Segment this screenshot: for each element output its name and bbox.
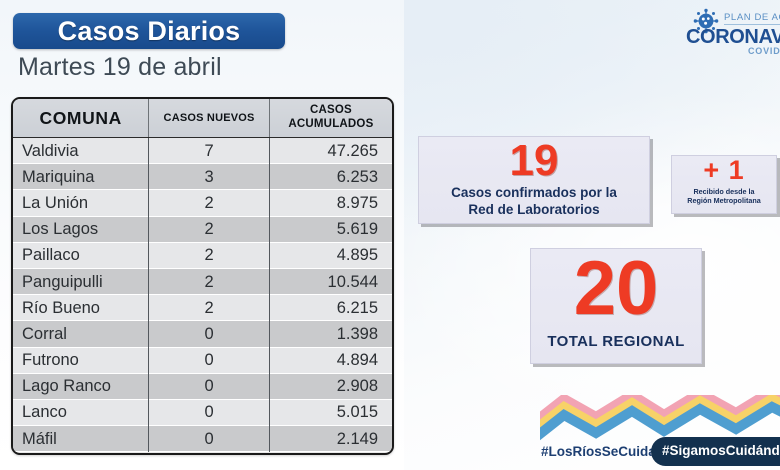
cell-casos-nuevos: 0 bbox=[149, 321, 270, 347]
table-row: Río Bueno26.215 bbox=[13, 295, 392, 321]
table-row: Los Lagos25.619 bbox=[13, 217, 392, 243]
received-cases-panel: + 1 Recibido desde la Región Metropolita… bbox=[671, 155, 777, 214]
cell-comuna: Los Lagos bbox=[13, 217, 149, 243]
cell-comuna: La Unión bbox=[13, 190, 149, 216]
cell-casos-acumulados: 47.265 bbox=[269, 138, 392, 165]
confirmed-cases-value: 19 bbox=[419, 139, 649, 183]
cell-casos-acumulados: 4.894 bbox=[269, 348, 392, 374]
cell-casos-acumulados: 5.015 bbox=[269, 400, 392, 426]
cell-casos-nuevos: 7 bbox=[149, 138, 270, 165]
total-regional-panel: 20 TOTAL REGIONAL bbox=[530, 248, 702, 364]
table-header-row: COMUNA CASOS NUEVOS CASOS ACUMULADOS bbox=[13, 99, 392, 138]
page-title: Casos Diarios bbox=[58, 16, 241, 47]
received-cases-caption: Recibido desde la Región Metropolitana bbox=[675, 187, 773, 206]
cell-comuna: Corral bbox=[13, 321, 149, 347]
cell-casos-nuevos: 0 bbox=[149, 348, 270, 374]
column-header-acum-line2: ACUMULADOS bbox=[274, 118, 388, 132]
column-header-comuna: COMUNA bbox=[13, 99, 149, 138]
cell-comuna: Lanco bbox=[13, 400, 149, 426]
cell-casos-nuevos: 2 bbox=[149, 295, 270, 321]
coronavirus-logo: PLAN DE ACCIÓN CORONAVIRUS COVID-19 bbox=[686, 6, 780, 54]
cell-casos-acumulados: 5.619 bbox=[269, 217, 392, 243]
confirmed-caption-line1: Casos confirmados por la bbox=[423, 185, 645, 202]
table-row: Futrono04.894 bbox=[13, 348, 392, 374]
cell-casos-nuevos: 2 bbox=[149, 269, 270, 295]
column-header-casos-acumulados: CASOS ACUMULADOS bbox=[269, 99, 392, 138]
cell-comuna: Máfil bbox=[13, 426, 149, 452]
hashtag-sigamos-cuidandonos-pill[interactable]: #SigamosCuidándonos bbox=[651, 437, 780, 466]
cell-casos-nuevos: 0 bbox=[149, 426, 270, 452]
hashtag-sigamos-cuidandonos: #SigamosCuidándonos bbox=[662, 443, 780, 458]
confirmed-cases-panel: 19 Casos confirmados por la Red de Labor… bbox=[418, 136, 650, 224]
cell-casos-nuevos: 0 bbox=[149, 374, 270, 400]
cell-casos-acumulados: 4.895 bbox=[269, 243, 392, 269]
table-row: Paillaco24.895 bbox=[13, 243, 392, 269]
received-caption-line1: Recibido desde la bbox=[675, 187, 773, 196]
table-row: Máfil02.149 bbox=[13, 426, 392, 452]
cell-casos-nuevos: 0 bbox=[149, 400, 270, 426]
table-row: Lanco05.015 bbox=[13, 400, 392, 426]
cell-casos-acumulados: 2.908 bbox=[269, 374, 392, 400]
table-row: Corral01.398 bbox=[13, 321, 392, 347]
total-regional-caption: TOTAL REGIONAL bbox=[531, 333, 701, 350]
cell-casos-nuevos: 3 bbox=[149, 164, 270, 190]
table-row: Lago Ranco02.908 bbox=[13, 374, 392, 400]
cell-casos-acumulados: 6.215 bbox=[269, 295, 392, 321]
cell-comuna: Paillaco bbox=[13, 243, 149, 269]
cell-casos-nuevos: 2 bbox=[149, 217, 270, 243]
table-row: Panguipulli210.544 bbox=[13, 269, 392, 295]
table-row: Mariquina36.253 bbox=[13, 164, 392, 190]
logo-rule bbox=[724, 24, 780, 25]
cell-comuna: Panguipulli bbox=[13, 269, 149, 295]
cell-comuna: Mariquina bbox=[13, 164, 149, 190]
logo-covid-text: COVID-19 bbox=[748, 46, 780, 54]
zigzag-decoration bbox=[540, 395, 780, 441]
received-caption-line2: Región Metropolitana bbox=[675, 196, 773, 205]
cell-casos-acumulados: 10.544 bbox=[269, 269, 392, 295]
cell-casos-nuevos: 2 bbox=[149, 190, 270, 216]
confirmed-caption-line2: Red de Laboratorios bbox=[423, 202, 645, 219]
cell-comuna: Lago Ranco bbox=[13, 374, 149, 400]
confirmed-cases-caption: Casos confirmados por la Red de Laborato… bbox=[423, 185, 645, 219]
table-row: La Unión28.975 bbox=[13, 190, 392, 216]
cell-casos-acumulados: 6.253 bbox=[269, 164, 392, 190]
cell-casos-acumulados: 1.398 bbox=[269, 321, 392, 347]
received-cases-value: + 1 bbox=[672, 156, 776, 184]
table-row: Valdivia747.265 bbox=[13, 138, 392, 165]
column-header-casos-nuevos: CASOS NUEVOS bbox=[149, 99, 270, 138]
cell-comuna: Valdivia bbox=[13, 138, 149, 165]
column-header-acum-line1: CASOS bbox=[274, 104, 388, 118]
cell-casos-nuevos: 2 bbox=[149, 243, 270, 269]
page-date: Martes 19 de abril bbox=[18, 53, 222, 82]
poster-root: Casos Diarios Martes 19 de abril PLAN DE… bbox=[0, 0, 780, 470]
cell-casos-acumulados: 2.149 bbox=[269, 426, 392, 452]
hashtag-los-rios-se-cuida[interactable]: #LosRíosSeCuida bbox=[541, 444, 656, 459]
table-body: Valdivia747.265Mariquina36.253La Unión28… bbox=[13, 138, 392, 453]
daily-cases-table: COMUNA CASOS NUEVOS CASOS ACUMULADOS Val… bbox=[11, 97, 394, 455]
cell-comuna: Futrono bbox=[13, 348, 149, 374]
cell-comuna: Río Bueno bbox=[13, 295, 149, 321]
total-regional-value: 20 bbox=[531, 247, 701, 331]
page-title-badge: Casos Diarios bbox=[13, 13, 285, 49]
logo-plan-text: PLAN DE ACCIÓN bbox=[724, 12, 780, 23]
cell-casos-acumulados: 8.975 bbox=[269, 190, 392, 216]
